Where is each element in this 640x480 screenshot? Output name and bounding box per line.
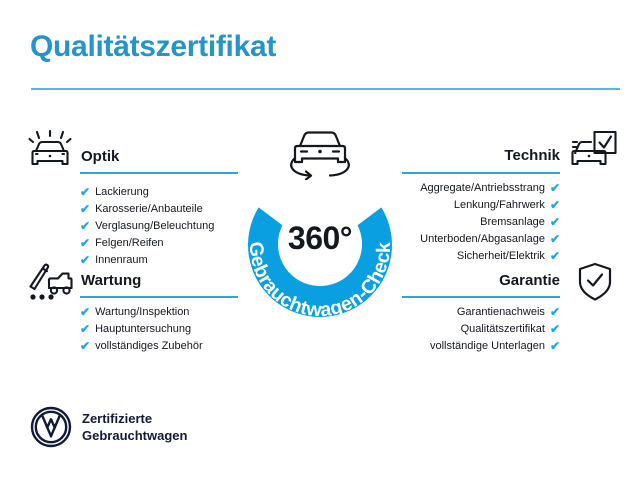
section-divider-wartung bbox=[80, 296, 238, 298]
check-icon: ✔ bbox=[550, 233, 560, 245]
check-icon: ✔ bbox=[80, 186, 90, 198]
check-icon: ✔ bbox=[80, 306, 90, 318]
list-item: vollständige Unterlagen✔ bbox=[430, 337, 560, 354]
check-icon: ✔ bbox=[550, 306, 560, 318]
list-item-label: Sicherheit/Elektrik bbox=[457, 250, 545, 262]
checklist-garantie: Garantienachweis✔ Qualitätszertifikat✔ v… bbox=[430, 303, 560, 354]
list-item: ✔Verglasung/Beleuchtung bbox=[80, 217, 214, 234]
list-item-label: Verglasung/Beleuchtung bbox=[95, 220, 214, 232]
list-item-label: Garantienachweis bbox=[457, 306, 545, 318]
list-item: Bremsanlage✔ bbox=[420, 213, 560, 230]
badge-degrees: 360° bbox=[226, 220, 414, 257]
check-icon: ✔ bbox=[80, 237, 90, 249]
list-item: Qualitätszertifikat✔ bbox=[430, 320, 560, 337]
list-item: Aggregate/Antriebsstrang✔ bbox=[420, 179, 560, 196]
check-icon: ✔ bbox=[80, 340, 90, 352]
list-item-label: Karosserie/Anbauteile bbox=[95, 203, 203, 215]
section-heading-technik: Technik bbox=[504, 147, 560, 164]
list-item: ✔Felgen/Reifen bbox=[80, 234, 214, 251]
section-heading-garantie: Garantie bbox=[499, 272, 560, 289]
list-item: Lenkung/Fahrwerk✔ bbox=[420, 196, 560, 213]
list-item-label: Hauptuntersuchung bbox=[95, 323, 191, 335]
list-item-label: Innenraum bbox=[95, 254, 148, 266]
gebrauchtwagen-check-badge: Gebrauchtwagen-Check 360° bbox=[226, 152, 414, 340]
check-icon: ✔ bbox=[550, 323, 560, 335]
vw-lockup-line2: Gebrauchtwagen bbox=[82, 427, 187, 444]
shield-check-icon bbox=[578, 262, 612, 307]
check-icon: ✔ bbox=[550, 199, 560, 211]
vw-lockup-line1: Zertifizierte bbox=[82, 410, 187, 427]
list-item-label: Wartung/Inspektion bbox=[95, 306, 189, 318]
section-divider-garantie bbox=[402, 296, 560, 298]
section-heading-wartung: Wartung bbox=[81, 272, 141, 289]
list-item-label: Felgen/Reifen bbox=[95, 237, 164, 249]
list-item: ✔Karosserie/Anbauteile bbox=[80, 200, 214, 217]
list-item-label: Qualitätszertifikat bbox=[461, 323, 545, 335]
quality-certificate-page: Qualitätszertifikat Optik ✔Lackierung ✔K… bbox=[0, 0, 640, 480]
vw-logo bbox=[30, 406, 72, 453]
page-title: Qualitätszertifikat bbox=[30, 30, 276, 64]
section-heading-optik: Optik bbox=[81, 148, 119, 165]
list-item-label: Bremsanlage bbox=[480, 216, 545, 228]
list-item-label: vollständiges Zubehör bbox=[95, 340, 203, 352]
list-item-label: Lenkung/Fahrwerk bbox=[454, 199, 545, 211]
section-divider-technik bbox=[402, 172, 560, 174]
car-rotation-360-icon bbox=[284, 122, 356, 180]
list-item: ✔Innenraum bbox=[80, 251, 214, 268]
list-item: ✔Wartung/Inspektion bbox=[80, 303, 203, 320]
check-icon: ✔ bbox=[80, 203, 90, 215]
section-divider-optik bbox=[80, 172, 238, 174]
check-icon: ✔ bbox=[550, 182, 560, 194]
vw-lockup-text: Zertifizierte Gebrauchtwagen bbox=[82, 410, 187, 444]
list-item-label: Unterboden/Abgasanlage bbox=[420, 233, 545, 245]
list-item: ✔Lackierung bbox=[80, 183, 214, 200]
list-item-label: Lackierung bbox=[95, 186, 149, 198]
check-icon: ✔ bbox=[550, 250, 560, 262]
car-checkbox-icon bbox=[566, 130, 618, 177]
check-icon: ✔ bbox=[550, 216, 560, 228]
car-service-wrench-icon bbox=[27, 262, 73, 307]
list-item: Garantienachweis✔ bbox=[430, 303, 560, 320]
checklist-wartung: ✔Wartung/Inspektion ✔Hauptuntersuchung ✔… bbox=[80, 303, 203, 354]
list-item-label: vollständige Unterlagen bbox=[430, 340, 545, 352]
checklist-optik: ✔Lackierung ✔Karosserie/Anbauteile ✔Verg… bbox=[80, 183, 214, 268]
list-item: Unterboden/Abgasanlage✔ bbox=[420, 230, 560, 247]
list-item: ✔Hauptuntersuchung bbox=[80, 320, 203, 337]
list-item: ✔vollständiges Zubehör bbox=[80, 337, 203, 354]
list-item: Sicherheit/Elektrik✔ bbox=[420, 247, 560, 264]
car-shine-icon bbox=[27, 130, 73, 177]
check-icon: ✔ bbox=[80, 220, 90, 232]
checklist-technik: Aggregate/Antriebsstrang✔ Lenkung/Fahrwe… bbox=[420, 179, 560, 264]
title-divider bbox=[31, 88, 620, 90]
check-icon: ✔ bbox=[80, 323, 90, 335]
check-icon: ✔ bbox=[550, 340, 560, 352]
check-icon: ✔ bbox=[80, 254, 90, 266]
list-item-label: Aggregate/Antriebsstrang bbox=[420, 182, 545, 194]
